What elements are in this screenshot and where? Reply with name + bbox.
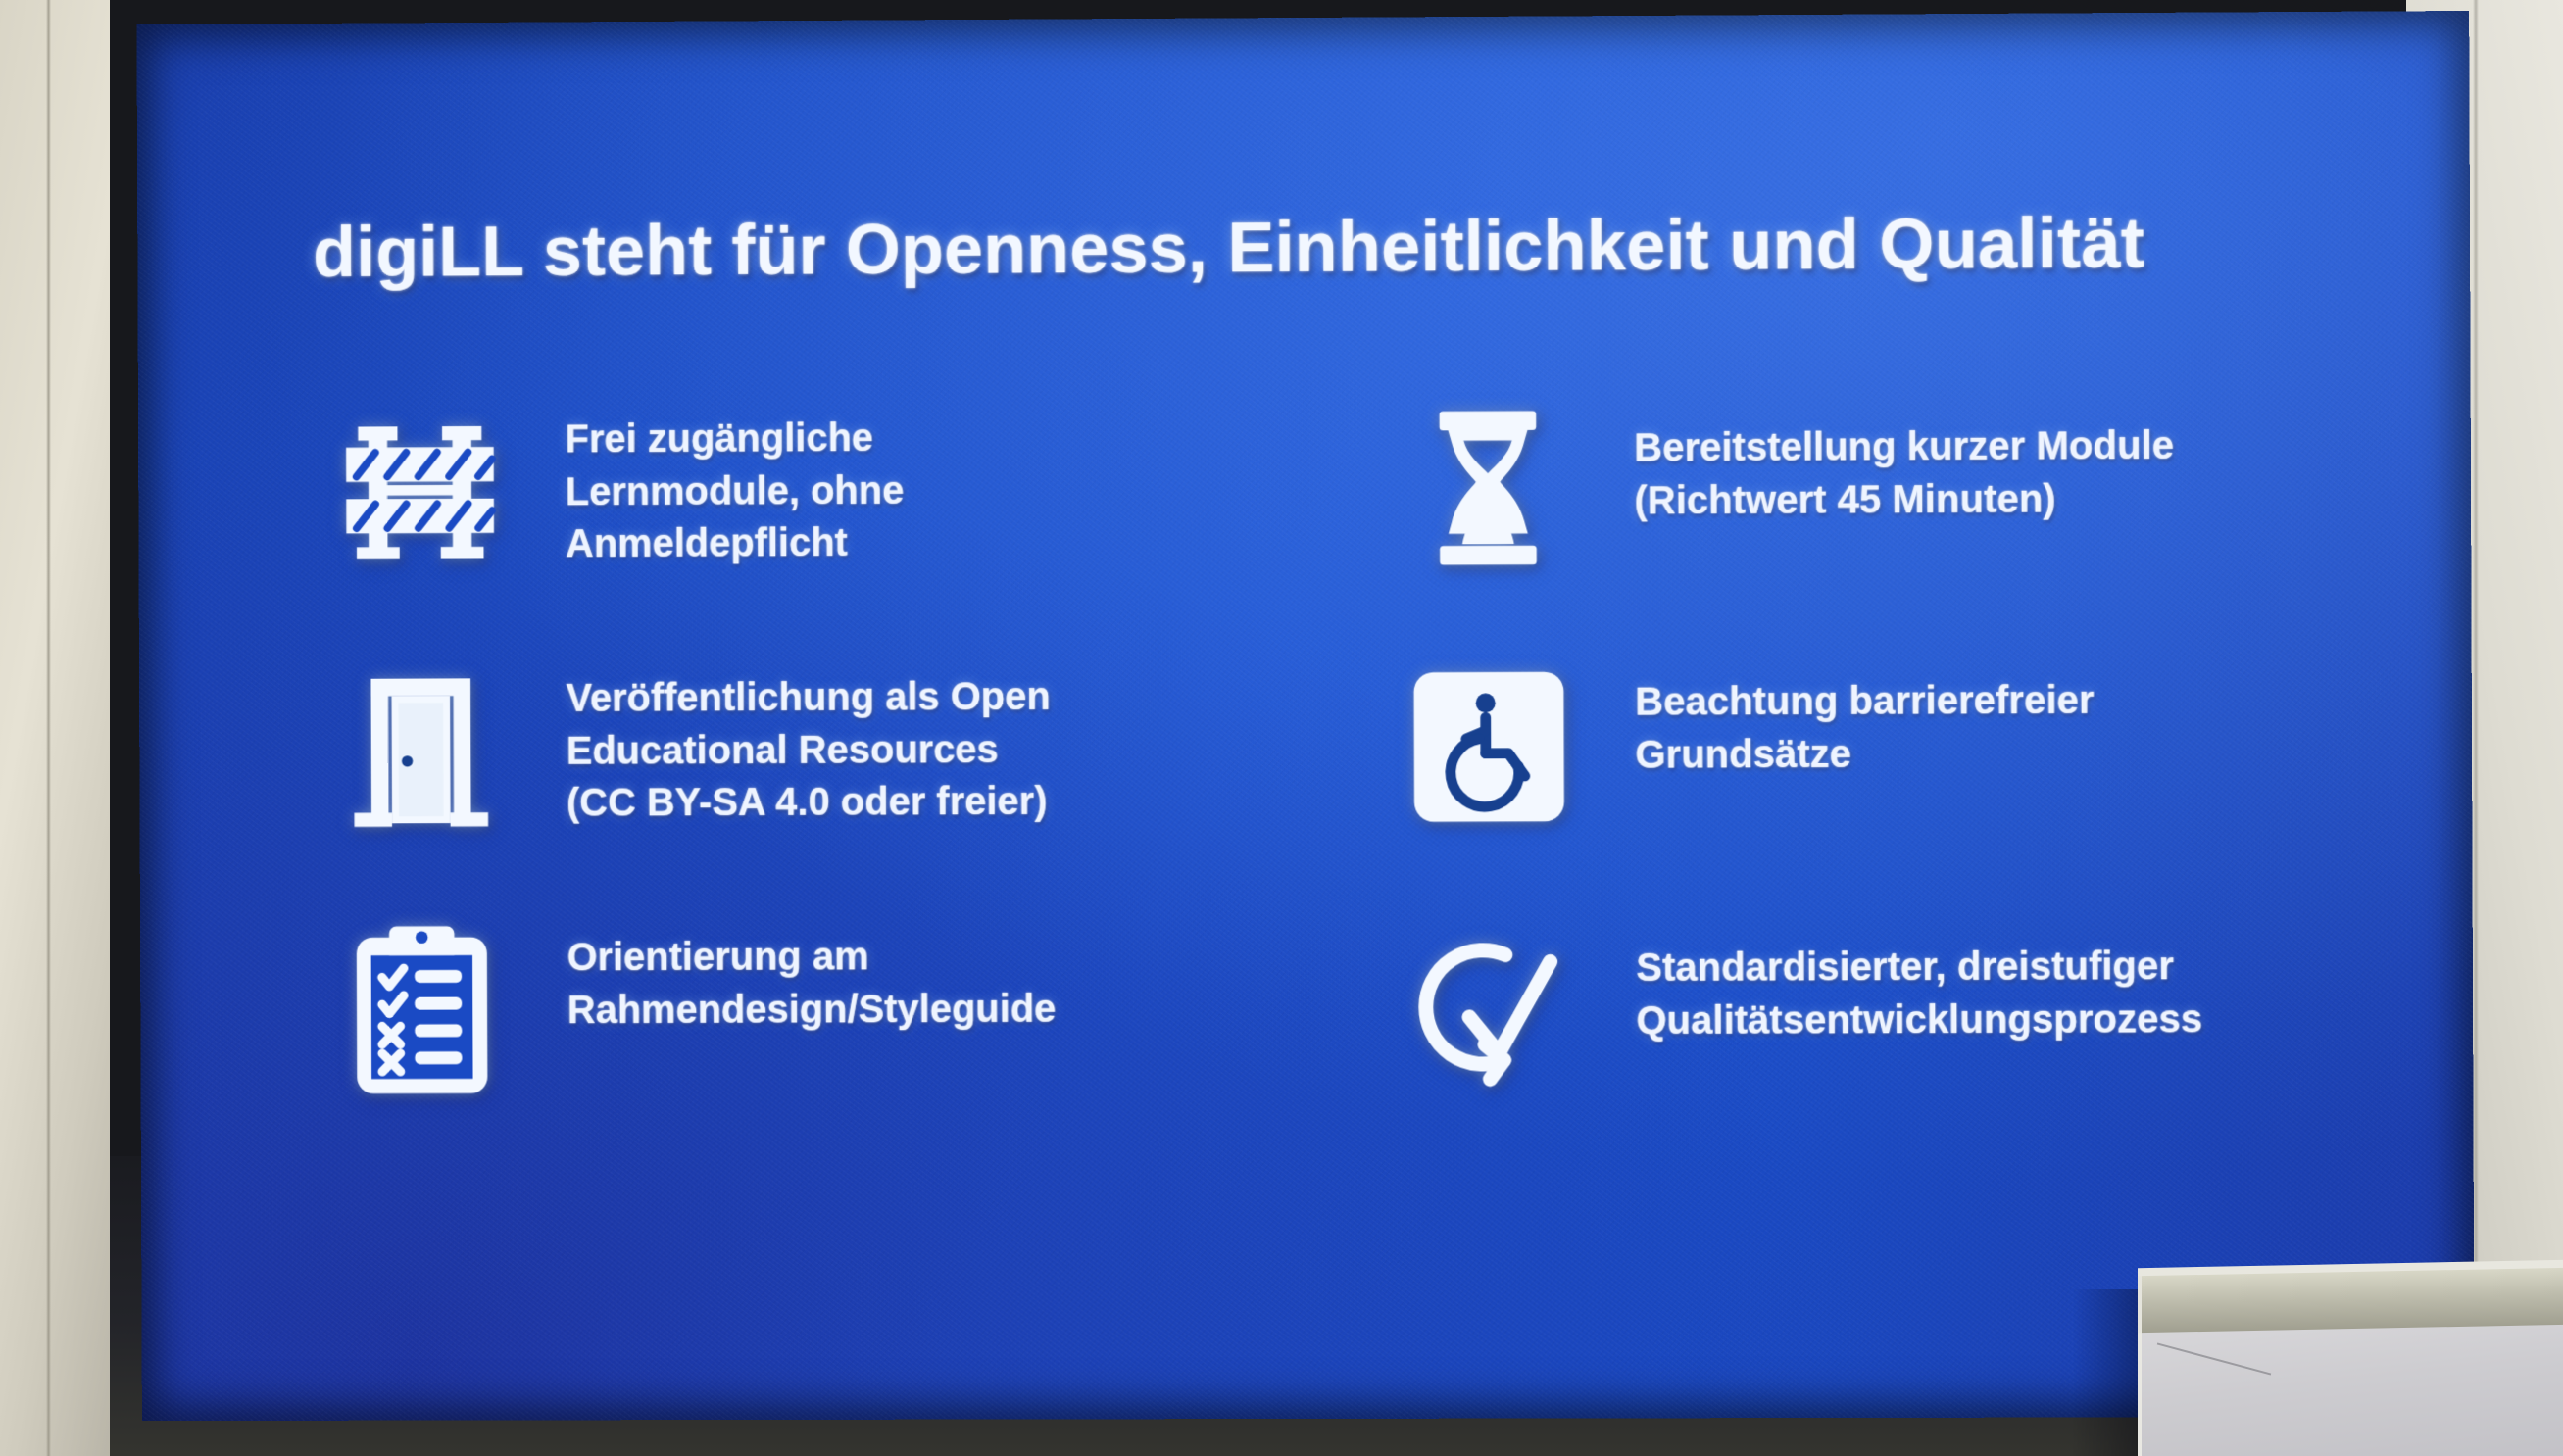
slide-title: digiLL steht für Openness, Einheitlichke… [313, 206, 2332, 290]
feature-text: Standardisierter, dreistufiger Qualitäts… [1636, 900, 2375, 1047]
feature-text: Beachtung barrierefreier Grundsätze [1635, 641, 2374, 782]
feature-line: Qualitätsentwicklungsprozess [1636, 993, 2374, 1047]
feature-item-veroeffentlichung-oer: Veröffentlichung als Open Educational Re… [305, 645, 1301, 907]
feature-text: Bereitstellung kurzer Module (Richtwert … [1634, 380, 2373, 528]
wall-left-seam [46, 0, 51, 1456]
wall-left [0, 0, 110, 1456]
feature-line: Beachtung barrierefreier [1635, 674, 2373, 730]
feature-item-beachtung-barrierefreier-grundsaetze: Beachtung barrierefreier Grundsätze [1372, 641, 2374, 904]
projected-slide-photo: digiLL steht für Openness, Einheitlichke… [0, 0, 2563, 1456]
feature-text: Veröffentlichung als Open Educational Re… [566, 645, 1300, 830]
feature-line: (Richtwert 45 Minuten) [1634, 472, 2372, 528]
feature-line: Grundsätze [1635, 726, 2373, 782]
feature-line: Anmeldepflicht [566, 515, 1300, 571]
feature-line: Rahmendesign/Styleguide [567, 983, 1302, 1038]
presentation-slide: digiLL steht für Openness, Einheitlichke… [136, 11, 2474, 1421]
whiteboard-shadow [2073, 1289, 2142, 1456]
feature-item-orientierung-am-rahmendesign: Orientierung am Rahmendesign/Styleguide [306, 904, 1302, 1167]
feature-line: Veröffentlichung als Open [567, 670, 1301, 725]
feature-text: Orientierung am Rahmendesign/Styleguide [567, 904, 1301, 1037]
hourglass-icon [1371, 384, 1605, 591]
wheelchair-accessibility-icon [1372, 644, 1606, 850]
feature-line: Bereitstellung kurzer Module [1634, 419, 2372, 475]
feature-line: Frei zugängliche [565, 411, 1299, 466]
feature-item-bereitstellung-kurzer-module: Bereitstellung kurzer Module (Richtwert … [1371, 380, 2373, 645]
whiteboard [2138, 1264, 2563, 1456]
feature-item-qualitaetsentwicklungsprozess: Standardisierter, dreistufiger Qualitäts… [1373, 900, 2375, 1163]
feature-line: Educational Resources [567, 723, 1301, 778]
feature-item-frei-zugaengliche-lernmodule: Frei zugängliche Lernmodule, ohne Anmeld… [304, 385, 1300, 649]
whiteboard-surface [2138, 1325, 2563, 1456]
feature-text: Frei zugängliche Lernmodule, ohne Anmeld… [565, 385, 1299, 571]
open-door-icon [305, 648, 538, 853]
feature-line: Orientierung am [567, 930, 1302, 985]
wall-right-seam [2473, 0, 2479, 1401]
feature-grid: Frei zugängliche Lernmodule, ohne Anmeld… [304, 380, 2375, 1167]
feature-line: (CC BY-SA 4.0 oder freier) [567, 775, 1301, 830]
barrier-icon [304, 389, 537, 596]
feature-line: Standardisierter, dreistufiger [1636, 941, 2374, 995]
cycle-check-icon [1373, 903, 1607, 1110]
feature-line: Lernmodule, ohne [566, 463, 1300, 519]
clipboard-checklist-icon [306, 907, 539, 1113]
